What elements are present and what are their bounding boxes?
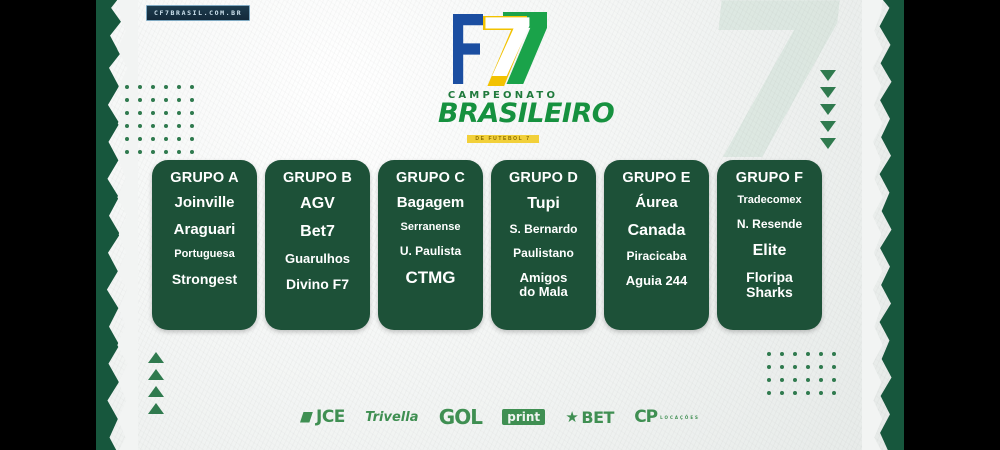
team-name: Áurea: [633, 195, 680, 211]
decor-dot: [125, 137, 129, 141]
decor-dot: [138, 98, 142, 102]
team-name: Canada: [626, 222, 688, 239]
decor-dot: [138, 137, 142, 141]
decor-dot: [138, 150, 142, 154]
team-name: Guarulhos: [283, 252, 352, 266]
decor-dot: [177, 111, 181, 115]
decor-dot: [780, 365, 784, 369]
group-card-header: GRUPO B: [283, 170, 352, 186]
decor-dot: [177, 98, 181, 102]
decor-dot: [151, 98, 155, 102]
sponsor-slash-icon: [300, 412, 313, 423]
decor-dot: [190, 85, 194, 89]
decor-dot: [138, 124, 142, 128]
decor-dot: [806, 365, 810, 369]
sponsor-logo-gol[interactable]: GOL: [439, 405, 482, 429]
decor-dot: [819, 391, 823, 395]
sponsor-label: CP: [634, 407, 657, 427]
decor-dot: [125, 150, 129, 154]
decor-dot: [151, 124, 155, 128]
team-name: Aguia 244: [624, 274, 689, 288]
decor-dot: [780, 378, 784, 382]
decor-dot: [767, 391, 771, 395]
group-card-a[interactable]: GRUPO AJoinvilleAraguariPortuguesaStrong…: [152, 160, 257, 330]
decor-dot: [125, 124, 129, 128]
team-name: S. Bernardo: [507, 223, 579, 236]
decor-dot: [793, 352, 797, 356]
decor-dot: [819, 365, 823, 369]
decor-dot: [177, 137, 181, 141]
decor-dot: [832, 378, 836, 382]
team-name: Serranense: [399, 222, 463, 234]
group-card-b[interactable]: GRUPO BAGVBet7GuarulhosDivino F7: [265, 160, 370, 330]
decor-dot: [151, 111, 155, 115]
decor-dot: [164, 137, 168, 141]
decor-dot: [177, 124, 181, 128]
decor-dot: [125, 111, 129, 115]
sponsor-logo-trivella[interactable]: Trivella: [365, 410, 418, 425]
sponsor-logo-jce[interactable]: JCE: [300, 407, 345, 427]
team-name: Tupi: [525, 195, 562, 212]
sponsor-logo-bet[interactable]: ★BET: [565, 408, 614, 427]
decor-dot: [793, 391, 797, 395]
team-name: Divino F7: [284, 277, 351, 292]
sponsor-tagline: LOCAÇÕES: [660, 415, 700, 420]
team-name: FloripaSharks: [744, 270, 795, 300]
team-name: N. Resende: [735, 218, 804, 231]
decor-dot: [177, 150, 181, 154]
decor-dot: [767, 365, 771, 369]
team-name: AGV: [298, 195, 337, 212]
decor-dot: [832, 391, 836, 395]
decor-dot: [164, 111, 168, 115]
decor-dot: [806, 391, 810, 395]
group-card-c[interactable]: GRUPO CBagagemSerranenseU. PaulistaCTMG: [378, 160, 483, 330]
team-name: Bagagem: [395, 195, 467, 211]
decor-dot: [793, 378, 797, 382]
championship-logo: 7 CAMPEONATO BRASILEIRO DE FUTEBOL 7: [438, 10, 568, 145]
decor-triangle-up: [148, 352, 164, 363]
group-cards-container: GRUPO AJoinvilleAraguariPortuguesaStrong…: [152, 160, 852, 330]
sponsor-label: GOL: [439, 405, 482, 429]
decor-dot: [125, 98, 129, 102]
star-icon: ★: [565, 408, 578, 426]
sponsor-label: JCE: [316, 407, 345, 427]
decor-triangle-up: [148, 369, 164, 380]
decor-dot: [190, 137, 194, 141]
decor-dot: [190, 98, 194, 102]
decor-dot: [780, 352, 784, 356]
sponsor-logo-cp[interactable]: CPLOCAÇÕES: [634, 407, 700, 427]
team-name: CTMG: [403, 269, 457, 287]
decor-dot: [164, 85, 168, 89]
decor-dot: [164, 98, 168, 102]
sponsor-bar: JCETrivellaGOLprint★BETCPLOCAÇÕES: [300, 400, 700, 434]
decor-dot: [138, 85, 142, 89]
decor-dot: [151, 150, 155, 154]
decor-triangle-down: [820, 87, 836, 98]
group-card-d[interactable]: GRUPO DTupiS. BernardoPaulistanoAmigosdo…: [491, 160, 596, 330]
group-card-header: GRUPO F: [736, 170, 803, 186]
team-name: Araguari: [172, 222, 238, 238]
team-name: Strongest: [170, 272, 239, 287]
group-card-header: GRUPO D: [509, 170, 578, 186]
sponsor-label: print: [507, 410, 540, 424]
group-card-header: GRUPO E: [622, 170, 690, 186]
logo-seven-numeral: 7: [477, 10, 539, 88]
team-name: Amigosdo Mala: [517, 271, 569, 299]
decor-dot: [806, 378, 810, 382]
sponsor-label: BET: [581, 408, 614, 427]
decor-dot-grid-top-left: [125, 85, 194, 154]
team-name: Paulistano: [511, 247, 576, 260]
group-card-f[interactable]: GRUPO FTradecomexN. ResendeEliteFloripaS…: [717, 160, 822, 330]
decor-dot: [177, 85, 181, 89]
decor-triangle-down: [820, 104, 836, 115]
decor-triangle-down: [820, 70, 836, 81]
team-name: Elite: [751, 242, 789, 259]
decor-dot: [793, 365, 797, 369]
group-card-header: GRUPO A: [170, 170, 239, 186]
decor-dot: [138, 111, 142, 115]
group-card-header: GRUPO C: [396, 170, 465, 186]
team-name: Tradecomex: [735, 195, 803, 207]
sponsor-logo-print[interactable]: print: [502, 409, 545, 425]
decor-dot: [190, 111, 194, 115]
cf7-logo-mark: 7: [447, 10, 559, 88]
decor-dot: [151, 137, 155, 141]
team-name: Joinville: [172, 195, 236, 211]
decor-dot: [819, 378, 823, 382]
logo-brasileiro-text: BRASILEIRO: [438, 101, 568, 127]
screenshot-root: 7 CF7BRASIL.COM.BR 7 CAMPEONATO BRASILEI…: [0, 0, 1000, 450]
decor-dot: [819, 352, 823, 356]
team-name: Portuguesa: [172, 249, 237, 261]
decor-triangle-up: [148, 386, 164, 397]
team-name: Bet7: [298, 223, 337, 240]
decor-dot-grid-bottom-right: [767, 352, 836, 395]
decor-triangle-down: [820, 138, 836, 149]
decor-dot: [125, 85, 129, 89]
team-name: Piracicaba: [624, 250, 688, 263]
decor-dot: [832, 365, 836, 369]
decor-dot: [164, 150, 168, 154]
group-card-e[interactable]: GRUPO EÁureaCanadaPiracicabaAguia 244: [604, 160, 709, 330]
decor-dot: [190, 124, 194, 128]
decor-dot: [806, 352, 810, 356]
decor-dot: [190, 150, 194, 154]
decor-dot: [780, 391, 784, 395]
decor-dot: [767, 352, 771, 356]
decor-dot: [151, 85, 155, 89]
decor-dot: [767, 378, 771, 382]
team-name: U. Paulista: [398, 245, 463, 258]
decor-dot: [164, 124, 168, 128]
sponsor-label: Trivella: [365, 410, 418, 425]
decor-triangle-down: [820, 121, 836, 132]
decor-triangle-up: [148, 403, 164, 414]
logo-subtitle-banner: DE FUTEBOL 7: [467, 135, 538, 143]
website-badge: CF7BRASIL.COM.BR: [146, 5, 250, 21]
decor-dot: [832, 352, 836, 356]
